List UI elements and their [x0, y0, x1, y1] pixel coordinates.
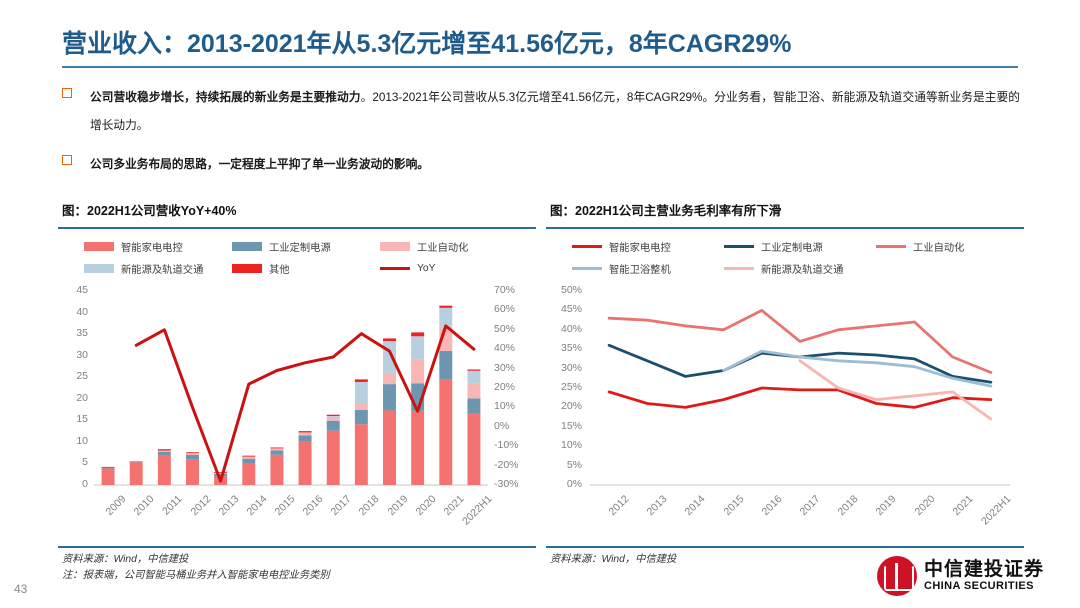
revenue-chart-panel: 图：2022H1公司营收YoY+40% 智能家电电控 工业定制电源 工业自动化 … [58, 200, 536, 596]
y-axis-tick-label: 45 [58, 284, 88, 296]
legend-line-icon [572, 267, 602, 270]
source-note-left: 资料来源：Wind，中信建投 注：报表端，公司智能马桶业务并入智能家电电控业务类… [62, 552, 330, 584]
legend-line-icon [380, 267, 410, 270]
legend-item[interactable]: 智能家电电控 [572, 239, 724, 254]
company-logo: 中信建投证券 CHINA SECURITIES [877, 556, 1044, 596]
legend-label: 智能卫浴整机 [609, 261, 671, 276]
legend-item[interactable]: 新能源及轨道交通 [84, 261, 232, 276]
list-item: 公司多业务布局的思路，一定程度上平抑了单一业务波动的影响。 [62, 151, 1020, 179]
bullet-list: 公司营收稳步增长，持续拓展的新业务是主要推动力。2013-2021年公司营收从5… [62, 84, 1020, 190]
legend-label: 新能源及轨道交通 [121, 261, 203, 276]
footer-divider-left [58, 546, 536, 548]
y2-axis-tick-label: 10% [494, 400, 515, 412]
legend-label: 其他 [269, 261, 290, 276]
legend-swatch-icon [84, 242, 114, 251]
y2-axis-tick-label: 0% [494, 420, 509, 432]
logo-name-en: CHINA SECURITIES [924, 580, 1044, 593]
y2-axis-tick-label: 40% [494, 342, 515, 354]
y2-axis-tick-label: -30% [494, 478, 519, 490]
legend-label: 工业定制电源 [761, 239, 823, 254]
y-axis-tick-label: 35% [546, 342, 582, 354]
y-axis-tick-label: 20 [58, 392, 88, 404]
legend-item[interactable]: 其他 [232, 261, 380, 276]
legend-label: 新能源及轨道交通 [761, 261, 843, 276]
y-axis-tick-label: 25% [546, 381, 582, 393]
legend-item[interactable]: 工业定制电源 [232, 239, 380, 254]
bullet-square-icon [62, 88, 72, 98]
gross-margin-chart-plot[interactable]: 0%5%10%15%20%25%30%35%40%45%50%201220132… [546, 285, 1024, 547]
legend-item[interactable]: YoY [380, 261, 510, 276]
bullet-square-icon [62, 155, 72, 165]
legend-item[interactable]: 智能卫浴整机 [572, 261, 724, 276]
logo-name-cn: 中信建投证券 [924, 560, 1044, 580]
title-divider [62, 66, 1018, 68]
page-title: 营业收入：2013-2021年从5.3亿元增至41.56亿元，8年CAGR29% [62, 24, 791, 60]
bullet-strong: 公司营收稳步增长，持续拓展的新业务是主要推动力 [90, 91, 361, 104]
legend-item[interactable]: 工业自动化 [876, 239, 1016, 254]
y-axis-tick-label: 10 [58, 435, 88, 447]
panel-title-right: 图：2022H1公司主营业务毛利率有所下滑 [546, 200, 1024, 219]
legend-swatch-icon [380, 242, 410, 251]
legend-line-icon [724, 245, 754, 248]
source-text: 资料来源：Wind，中信建投 [62, 552, 330, 568]
source-text: 资料来源：Wind，中信建投 [550, 552, 676, 568]
y-axis-tick-label: 15% [546, 420, 582, 432]
gross-margin-chart-panel: 图：2022H1公司主营业务毛利率有所下滑 智能家电电控 工业定制电源 工业自动… [546, 200, 1024, 596]
y2-axis-tick-label: 20% [494, 381, 515, 393]
y-axis-tick-label: 30% [546, 362, 582, 374]
bullet-text: 公司多业务布局的思路，一定程度上平抑了单一业务波动的影响。 [90, 151, 429, 179]
legend-label: 工业定制电源 [269, 239, 331, 254]
legend-item[interactable]: 工业定制电源 [724, 239, 876, 254]
source-note-right: 资料来源：Wind，中信建投 [550, 552, 676, 568]
y-axis-tick-label: 25 [58, 370, 88, 382]
y-axis-tick-label: 40 [58, 306, 88, 318]
legend-line-icon [572, 245, 602, 248]
footer-divider-right [546, 546, 1024, 548]
legend-item[interactable]: 智能家电电控 [84, 239, 232, 254]
y-axis-tick-label: 50% [546, 284, 582, 296]
y2-axis-tick-label: -10% [494, 439, 519, 451]
legend-swatch-icon [84, 264, 114, 273]
bullet-text: 公司营收稳步增长，持续拓展的新业务是主要推动力。2013-2021年公司营收从5… [90, 84, 1020, 140]
legend-label: 智能家电电控 [609, 239, 671, 254]
page-number: 43 [14, 582, 27, 596]
y-axis-tick-label: 20% [546, 400, 582, 412]
legend-item[interactable]: 工业自动化 [380, 239, 510, 254]
footnote-text: 注：报表端，公司智能马桶业务并入智能家电电控业务类别 [62, 568, 330, 584]
y2-axis-tick-label: 50% [494, 323, 515, 335]
y2-axis-tick-label: 70% [494, 284, 515, 296]
legend-left: 智能家电电控 工业定制电源 工业自动化 新能源及轨道交通 其他 YoY [58, 229, 536, 285]
legend-line-icon [724, 267, 754, 270]
revenue-chart-plot[interactable]: 051015202530354045-30%-20%-10%0%10%20%30… [58, 285, 536, 547]
y-axis-tick-label: 5 [58, 456, 88, 468]
y-axis-tick-label: 5% [546, 459, 582, 471]
bullet-strong: 公司多业务布局的思路，一定程度上平抑了单一业务波动的影响。 [90, 158, 429, 171]
china-securities-mark-icon [877, 556, 917, 596]
y-axis-tick-label: 0% [546, 478, 582, 490]
legend-right: 智能家电电控 工业定制电源 工业自动化 智能卫浴整机 新能源及轨道交通 [546, 229, 1024, 285]
legend-item[interactable]: 新能源及轨道交通 [724, 261, 876, 276]
y-axis-tick-label: 15 [58, 413, 88, 425]
y-axis-tick-label: 10% [546, 439, 582, 451]
legend-label: YoY [417, 263, 436, 274]
y2-axis-tick-label: 30% [494, 362, 515, 374]
y-axis-tick-label: 0 [58, 478, 88, 490]
list-item: 公司营收稳步增长，持续拓展的新业务是主要推动力。2013-2021年公司营收从5… [62, 84, 1020, 140]
y-axis-tick-label: 40% [546, 323, 582, 335]
legend-label: 工业自动化 [417, 239, 468, 254]
legend-line-icon [876, 245, 906, 248]
legend-label: 工业自动化 [913, 239, 964, 254]
panel-title-left: 图：2022H1公司营收YoY+40% [58, 200, 536, 219]
legend-label: 智能家电电控 [121, 239, 183, 254]
legend-swatch-icon [232, 264, 262, 273]
y-axis-tick-label: 45% [546, 303, 582, 315]
y-axis-tick-label: 30 [58, 349, 88, 361]
y2-axis-tick-label: 60% [494, 303, 515, 315]
legend-swatch-icon [232, 242, 262, 251]
y2-axis-tick-label: -20% [494, 459, 519, 471]
y-axis-tick-label: 35 [58, 327, 88, 339]
